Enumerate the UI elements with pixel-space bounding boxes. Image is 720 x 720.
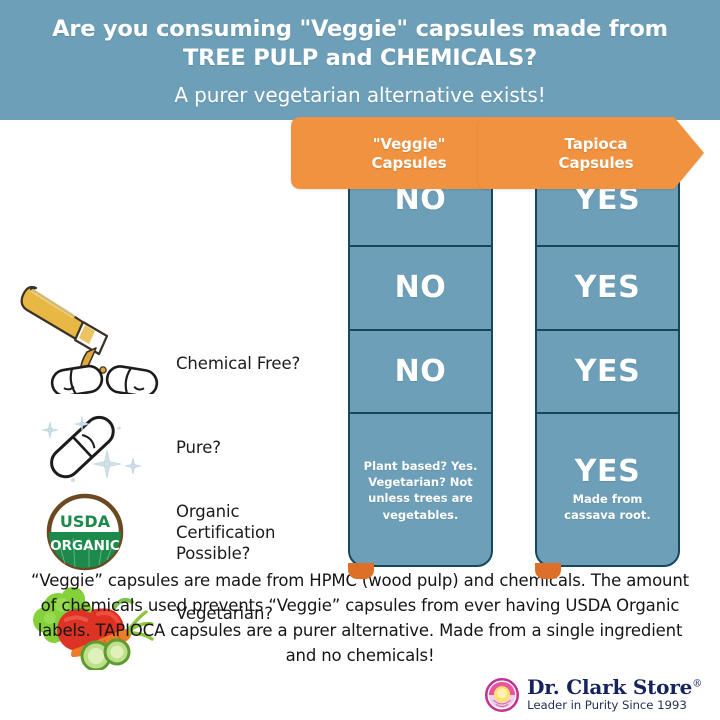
column-tapioca-capsules: Tapioca Capsules YES YES YES YES Made fr… xyxy=(535,152,680,567)
veggie-tab-fold xyxy=(348,563,374,579)
cell-veggie-organic: NO xyxy=(350,331,491,414)
row-label-pure: Pure? xyxy=(176,437,221,458)
comparison-table: USDA ORGANIC xyxy=(0,120,720,560)
cell-veggie-pure: NO xyxy=(350,247,491,331)
test-tube-pouring-into-capsule-icon xyxy=(0,264,170,394)
cell-tapioca-vegetarian-note: Made from cassava root. xyxy=(537,491,678,524)
usda-organic-seal-icon: USDA ORGANIC xyxy=(0,492,170,572)
veggie-column-body: NO NO NO Plant based? Yes. Vegetarian? N… xyxy=(348,152,493,567)
registered-mark: ® xyxy=(692,679,702,690)
headline-line-1: Are you consuming "Veggie" capsules made… xyxy=(52,15,668,44)
page-headline: Are you consuming "Veggie" capsules made… xyxy=(52,15,668,73)
veggie-title-line-1: "Veggie" xyxy=(373,135,446,153)
tapioca-column-header-tab: Tapioca Capsules xyxy=(478,117,708,190)
cell-tapioca-organic-value: YES xyxy=(575,357,641,387)
sunrise-circle-logo-icon xyxy=(485,678,519,712)
veggie-title-line-2: Capsules xyxy=(372,154,447,172)
veggie-column-title: "Veggie" Capsules xyxy=(291,117,491,190)
sparkling-capsule-icon xyxy=(0,406,170,488)
footer-paragraph: “Veggie” capsules are made from HPMC (wo… xyxy=(24,568,696,668)
headline-line-2: TREE PULP and CHEMICALS? xyxy=(52,44,668,73)
row-label-chemical-free: Chemical Free? xyxy=(176,353,300,374)
usda-seal-top-text: USDA xyxy=(60,512,111,531)
cell-tapioca-organic: YES xyxy=(537,331,678,414)
cell-tapioca-pure: YES xyxy=(537,247,678,331)
row-label-organic-line-1: Organic xyxy=(176,501,275,522)
row-label-organic-line-2: Certification xyxy=(176,522,275,543)
brand-name: Dr. Clark Store® xyxy=(527,677,702,697)
cell-tapioca-vegetarian-value: YES xyxy=(575,457,641,487)
row-label-organic-line-3: Possible? xyxy=(176,543,275,564)
brand-text-block: Dr. Clark Store® Leader in Purity Since … xyxy=(527,677,702,712)
header-banner: Are you consuming "Veggie" capsules made… xyxy=(0,0,720,120)
cell-veggie-pure-value: NO xyxy=(395,273,447,303)
page-subheadline: A purer vegetarian alternative exists! xyxy=(174,83,545,107)
cell-veggie-organic-value: NO xyxy=(395,357,447,387)
column-veggie-capsules: "Veggie" Capsules NO NO NO Plant based? … xyxy=(348,152,493,567)
tapioca-title-line-1: Tapioca xyxy=(565,135,628,153)
tapioca-column-title: Tapioca Capsules xyxy=(478,117,678,190)
brand-name-text: Dr. Clark Store xyxy=(527,675,692,699)
tapioca-tab-fold xyxy=(535,563,561,579)
cell-veggie-vegetarian: Plant based? Yes. Vegetarian? Not unless… xyxy=(350,414,491,567)
cell-tapioca-pure-value: YES xyxy=(575,273,641,303)
tapioca-column-body: YES YES YES YES Made from cassava root. xyxy=(535,152,680,567)
cell-tapioca-vegetarian: YES Made from cassava root. xyxy=(537,414,678,567)
row-label-organic-certification: Organic Certification Possible? xyxy=(176,501,275,564)
tapioca-title-line-2: Capsules xyxy=(559,154,634,172)
brand-tagline: Leader in Purity Since 1993 xyxy=(527,700,702,712)
usda-seal-bottom-text: ORGANIC xyxy=(50,538,120,554)
brand-logo: Dr. Clark Store® Leader in Purity Since … xyxy=(485,677,702,712)
cell-veggie-vegetarian-note: Plant based? Yes. Vegetarian? Not unless… xyxy=(350,458,491,523)
